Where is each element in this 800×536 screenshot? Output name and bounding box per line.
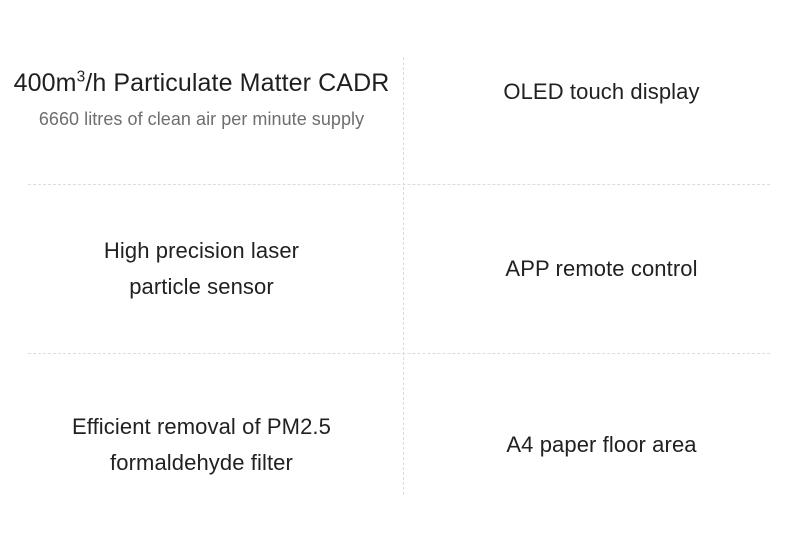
cadr-title-prefix: 400m (14, 69, 77, 97)
feature-text-sensor: High precision laser particle sensor (104, 233, 299, 304)
filter-line-2: formaldehyde filter (72, 445, 331, 481)
feature-spec-grid: 400m3/h Particulate Matter CADR 6660 lit… (0, 0, 800, 536)
filter-line-1: Efficient removal of PM2.5 (72, 409, 331, 445)
feature-text-app: APP remote control (505, 251, 697, 287)
feature-text-display: OLED touch display (503, 74, 699, 110)
sensor-line-2: particle sensor (104, 269, 299, 305)
feature-cell-cadr: 400m3/h Particulate Matter CADR 6660 lit… (0, 0, 403, 184)
display-line-1: OLED touch display (503, 74, 699, 110)
feature-cell-filter: Efficient removal of PM2.5 formaldehyde … (0, 353, 403, 536)
sensor-line-1: High precision laser (104, 233, 299, 269)
cadr-title-suffix: /h Particulate Matter CADR (85, 69, 389, 97)
footprint-line-1: A4 paper floor area (506, 427, 696, 463)
feature-cell-footprint: A4 paper floor area (403, 353, 800, 536)
horizontal-divider-bottom (28, 353, 770, 354)
cadr-title-superscript: 3 (77, 68, 86, 85)
horizontal-divider-top (28, 184, 770, 185)
app-line-1: APP remote control (505, 251, 697, 287)
feature-cell-display: OLED touch display (403, 0, 800, 184)
feature-cell-app: APP remote control (403, 184, 800, 353)
feature-subtitle-cadr: 6660 litres of clean air per minute supp… (39, 106, 364, 132)
feature-cell-sensor: High precision laser particle sensor (0, 184, 403, 353)
feature-text-footprint: A4 paper floor area (506, 427, 696, 463)
feature-title-cadr: 400m3/h Particulate Matter CADR (14, 66, 390, 102)
feature-text-filter: Efficient removal of PM2.5 formaldehyde … (72, 409, 331, 480)
vertical-divider (403, 57, 404, 495)
